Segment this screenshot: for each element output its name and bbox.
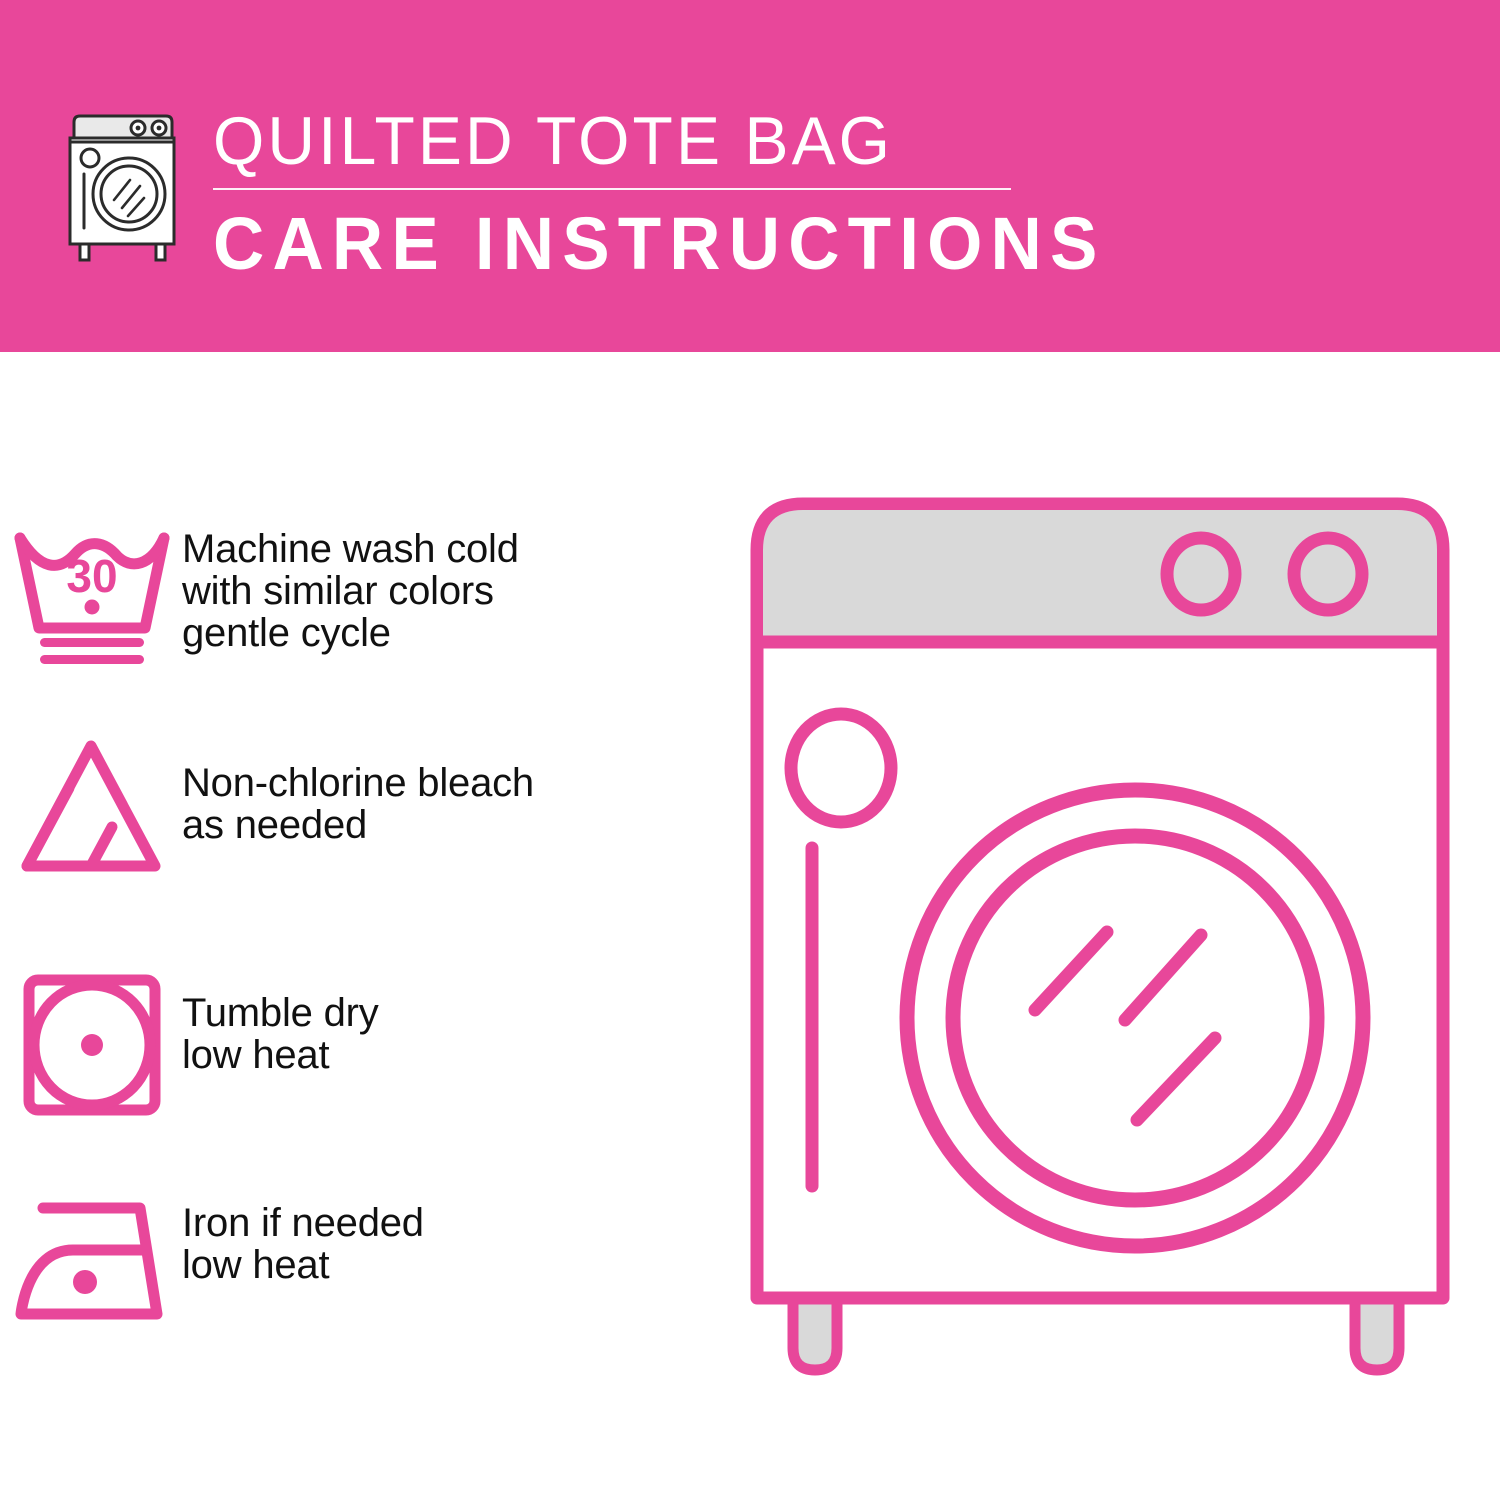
- care-instruction-item: Tumble dry low heat: [0, 970, 720, 1120]
- care-label-line: low heat: [182, 1244, 424, 1286]
- care-instructions-list: 30 Machine wash cold with similar colors…: [0, 352, 720, 1500]
- header-divider: [213, 188, 1011, 190]
- care-label-line: Machine wash cold: [182, 528, 519, 570]
- svg-text:30: 30: [66, 550, 117, 602]
- care-instruction-label: Machine wash cold with similar colors ge…: [182, 520, 519, 654]
- care-instruction-label: Iron if needed low heat: [182, 1184, 424, 1286]
- care-instruction-item: Iron if needed low heat: [0, 1184, 720, 1334]
- control-knob: [1294, 538, 1362, 610]
- care-label-line: with similar colors: [182, 570, 519, 612]
- non-chlorine-bleach-symbol: [0, 732, 182, 882]
- care-instruction-label: Non-chlorine bleach as needed: [182, 732, 534, 846]
- care-label-line: Iron if needed: [182, 1202, 424, 1244]
- care-instruction-item: 30 Machine wash cold with similar colors…: [0, 520, 720, 670]
- iron-symbol: [0, 1184, 182, 1334]
- washing-machine-illustration: [735, 480, 1465, 1440]
- page-subtitle: CARE INSTRUCTIONS: [213, 204, 991, 284]
- washing-machine-icon: [62, 108, 190, 263]
- care-label-line: low heat: [182, 1034, 379, 1076]
- care-label-line: Tumble dry: [182, 992, 379, 1034]
- machine-wash-symbol: 30: [0, 520, 182, 670]
- tumble-dry-symbol: [0, 970, 182, 1120]
- indicator-circle: [791, 714, 891, 822]
- care-label-line: Non-chlorine bleach: [182, 762, 534, 804]
- page-title: QUILTED TOTE BAG: [213, 104, 999, 178]
- care-label-line: gentle cycle: [182, 612, 519, 654]
- care-instruction-label: Tumble dry low heat: [182, 970, 379, 1076]
- header-banner: QUILTED TOTE BAG CARE INSTRUCTIONS: [0, 0, 1500, 352]
- care-label-line: as needed: [182, 804, 534, 846]
- control-knob: [1167, 538, 1235, 610]
- care-instruction-item: Non-chlorine bleach as needed: [0, 732, 720, 882]
- header-text-block: QUILTED TOTE BAG CARE INSTRUCTIONS: [213, 104, 1023, 284]
